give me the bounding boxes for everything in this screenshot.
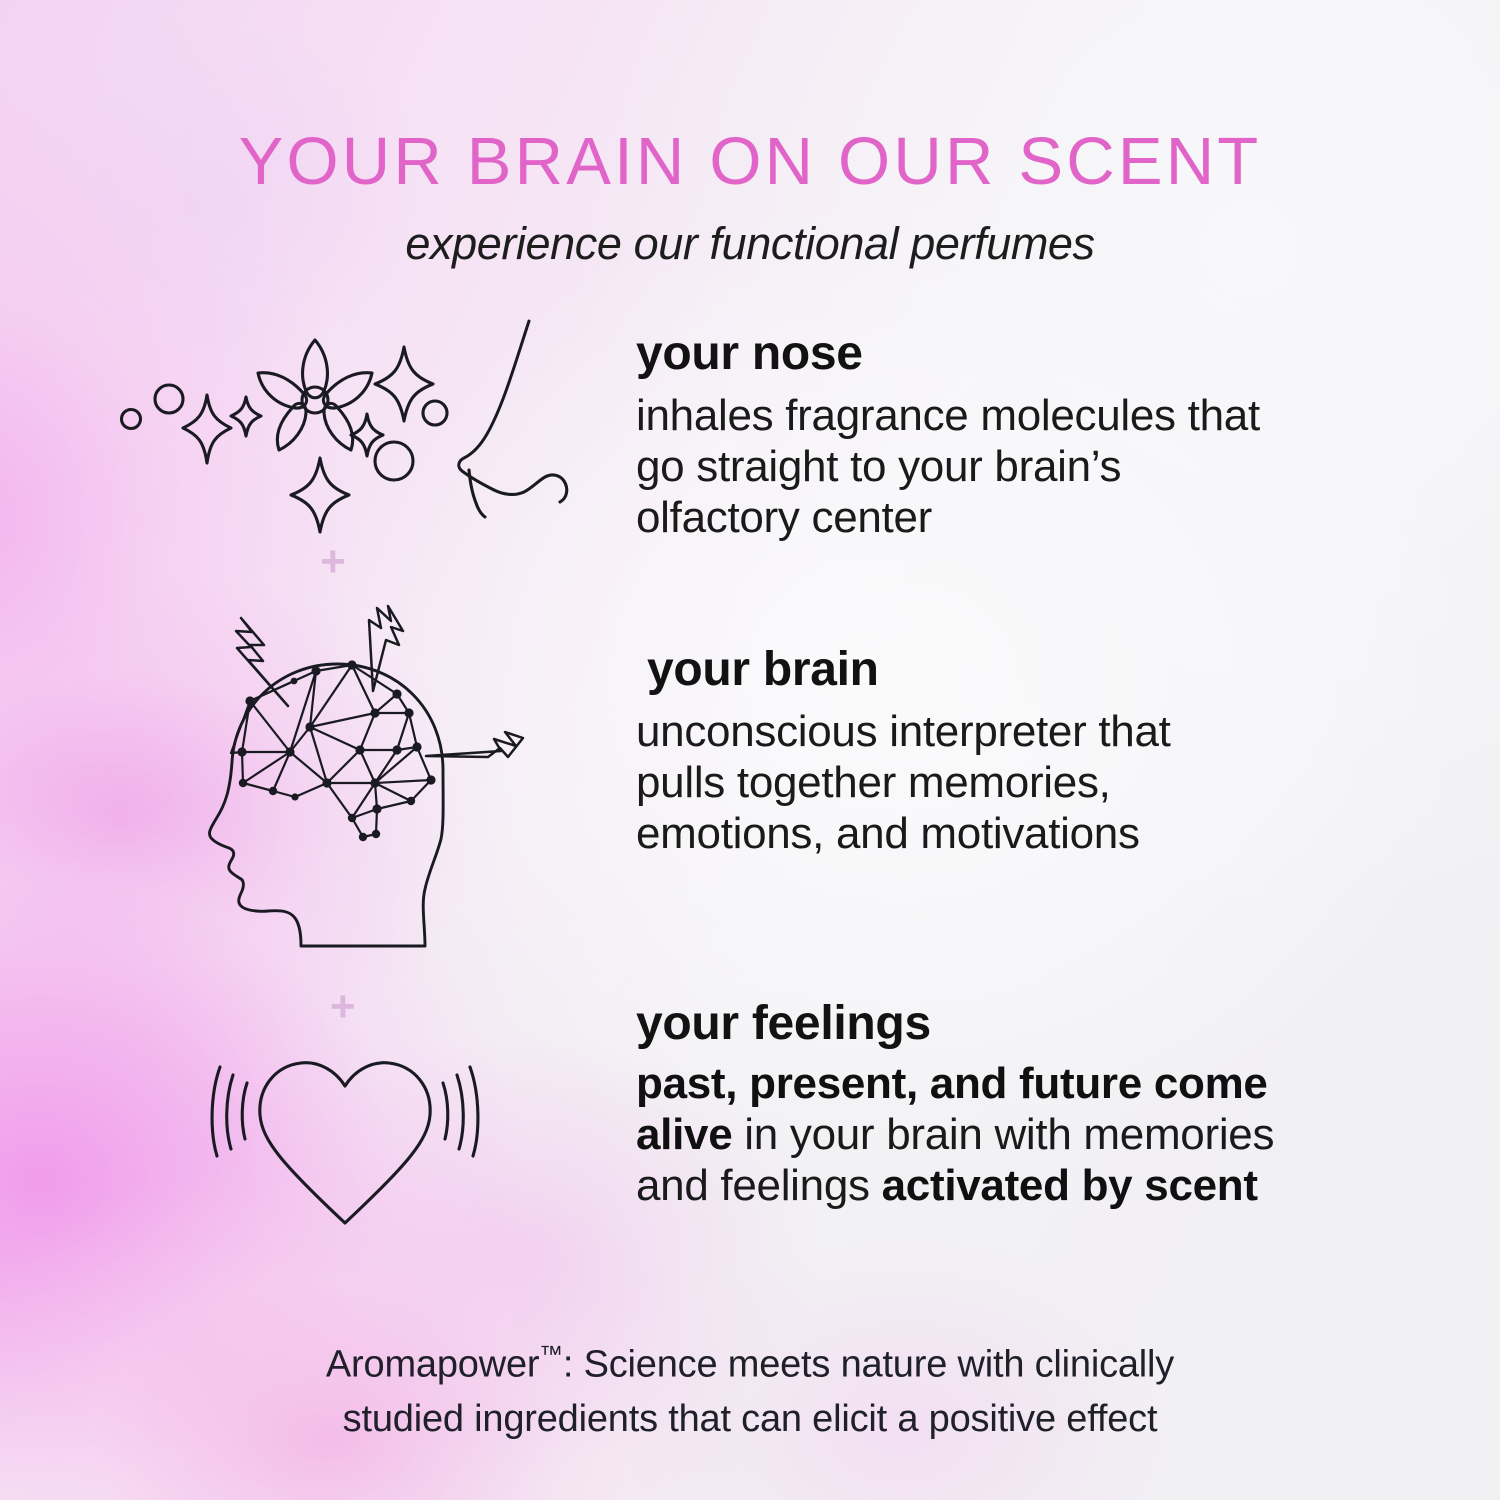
section-your-nose: your nose inhales fragrance molecules th… (636, 330, 1406, 543)
section-heading-your-brain: your brain (636, 646, 1396, 694)
nose-sparkle-flower-icon (112, 318, 612, 558)
section-body-your-feelings: past, present, and future come alive in … (636, 1059, 1426, 1211)
body-line: go straight to your brain’s (636, 442, 1121, 491)
section-body-your-brain: unconscious interpreter that pulls toget… (636, 707, 1396, 859)
footer-line-1: Aromapower™: Science meets nature with c… (0, 1338, 1500, 1393)
body-run: and feelings (636, 1161, 882, 1210)
body-line: unconscious interpreter that (636, 707, 1171, 756)
heart-vibration-icon (195, 1045, 495, 1250)
plus-separator-1: + (320, 540, 346, 584)
trademark-symbol: ™ (539, 1341, 563, 1367)
body-run-bold: alive (636, 1110, 732, 1159)
plus-separator-2: + (330, 985, 356, 1029)
section-your-brain: your brain unconscious interpreter that … (636, 646, 1396, 859)
header-block: YOUR BRAIN ON OUR SCENT experience our f… (0, 128, 1500, 266)
section-heading-your-nose: your nose (636, 330, 1406, 378)
body-line: emotions, and motivations (636, 809, 1140, 858)
body-line: pulls together memories, (636, 758, 1111, 807)
page-subtitle: experience our functional perfumes (0, 221, 1500, 266)
brand-name: Aromapower (326, 1344, 539, 1386)
poster-canvas: YOUR BRAIN ON OUR SCENT experience our f… (0, 0, 1500, 1500)
footer-line-2: studied ingredients that can elicit a po… (0, 1393, 1500, 1447)
body-run-bold: activated by scent (882, 1161, 1258, 1210)
head-brain-network-icon (185, 605, 535, 955)
body-line: olfactory center (636, 493, 932, 542)
footer-line-1-rest: : Science meets nature with clinically (563, 1344, 1174, 1386)
section-your-feelings: your feelings past, present, and future … (636, 1000, 1426, 1211)
page-title: YOUR BRAIN ON OUR SCENT (0, 128, 1500, 195)
body-run-bold: past, present, and future come (636, 1059, 1268, 1108)
footer-disclaimer: Aromapower™: Science meets nature with c… (0, 1338, 1500, 1447)
section-heading-your-feelings: your feelings (636, 1000, 1426, 1048)
body-line: inhales fragrance molecules that (636, 391, 1260, 440)
body-run: in your brain with memories (732, 1110, 1274, 1159)
section-body-your-nose: inhales fragrance molecules that go stra… (636, 391, 1406, 543)
